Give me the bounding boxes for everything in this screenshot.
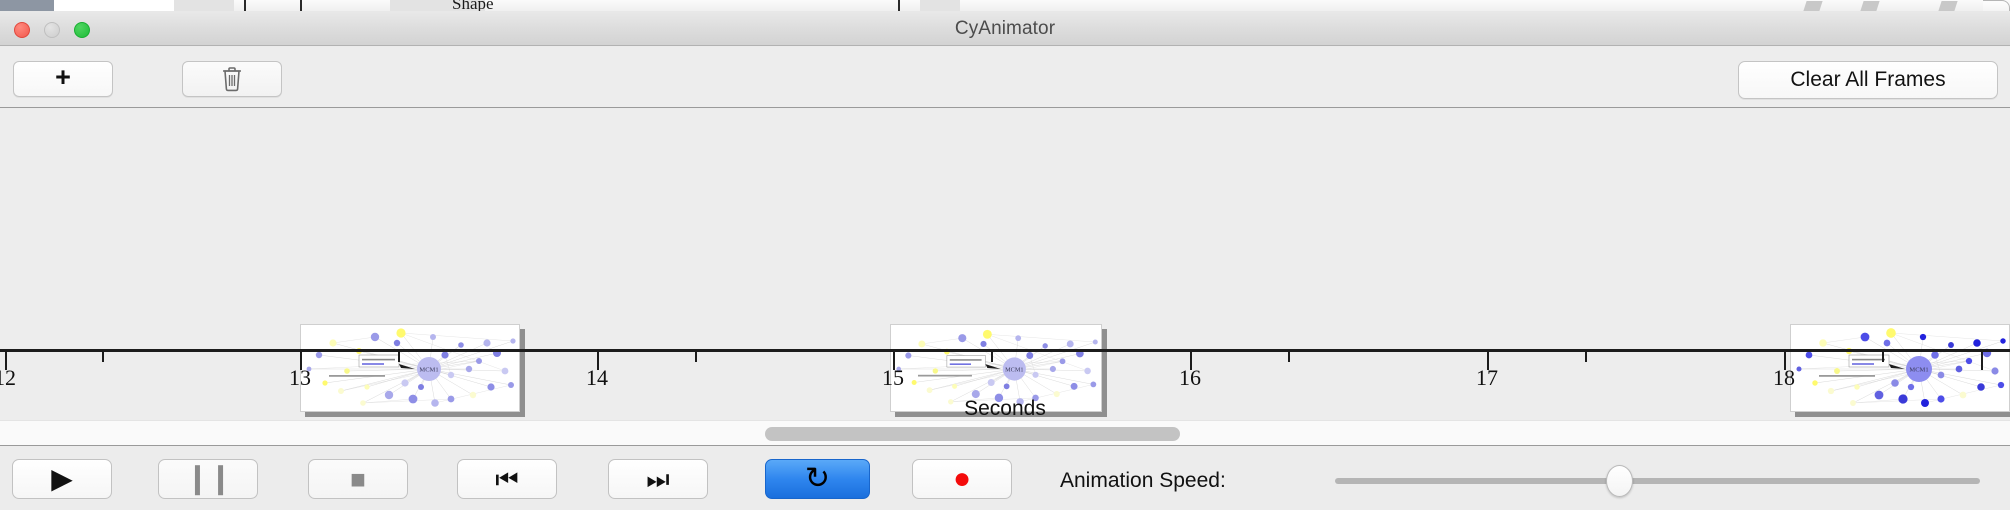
animation-speed-slider[interactable] [1335, 478, 1980, 484]
animation-speed-label: Animation Speed: [1060, 469, 1226, 493]
slider-thumb[interactable] [1606, 465, 1633, 497]
cyanimator-window: Shape CyAnimator + Clear All Frames [0, 0, 2010, 510]
axis-tick-label: 16 [1179, 365, 1201, 391]
bg-chunk [174, 0, 234, 11]
skip-back-icon: ⏮ [495, 466, 518, 492]
record-icon: ● [953, 464, 971, 494]
svg-text:MCM1: MCM1 [1909, 366, 1928, 373]
bg-tab [1860, 1, 1879, 11]
window-title: CyAnimator [0, 18, 2010, 40]
stop-icon: ■ [350, 466, 366, 492]
timeline-panel[interactable]: MCM1MCM1MCM1 12131415161718 Seconds [0, 109, 2010, 420]
svg-text:MCM1: MCM1 [419, 366, 438, 373]
add-frame-button[interactable]: + [13, 61, 113, 97]
axis-tick [102, 352, 104, 362]
axis-tick-label: 13 [289, 365, 311, 391]
axis-tick-label: 18 [1773, 365, 1795, 391]
timeline-scrollbar[interactable] [0, 420, 2010, 446]
axis-tick [1288, 352, 1290, 362]
play-icon: ▶ [51, 465, 73, 493]
axis-tick-label: 15 [882, 365, 904, 391]
svg-text:MCM1: MCM1 [1005, 366, 1023, 373]
scrollbar-thumb[interactable] [765, 427, 1180, 441]
stop-button: ■ [308, 459, 408, 499]
skip-forward-icon: ⏭ [646, 466, 669, 492]
bg-chunk [920, 0, 960, 11]
axis-tick [991, 352, 993, 362]
clear-all-frames-label: Clear All Frames [1790, 68, 1945, 92]
axis-tick [398, 352, 400, 362]
toolbar: + Clear All Frames [0, 47, 2010, 108]
axis-tick [1981, 352, 1983, 370]
axis-tick-label: 12 [0, 365, 16, 391]
skip-fwd-button[interactable]: ⏭ [608, 459, 708, 499]
bg-tab [1938, 1, 1957, 11]
title-bar: CyAnimator [0, 11, 2010, 46]
loop-button[interactable]: ↻ [765, 459, 870, 499]
delete-frame-button[interactable] [182, 61, 282, 97]
play-button[interactable]: ▶ [12, 459, 112, 499]
axis-tick-label: 14 [586, 365, 608, 391]
record-button[interactable]: ● [912, 459, 1012, 499]
axis-title: Seconds [0, 397, 2010, 420]
axis-tick [695, 352, 697, 362]
skip-back-button[interactable]: ⏮ [457, 459, 557, 499]
bg-chunk [244, 0, 246, 11]
clear-all-frames-button[interactable]: Clear All Frames [1738, 61, 1998, 99]
bg-chunk [0, 0, 54, 11]
bg-chunk [54, 0, 174, 11]
plus-icon: + [55, 64, 71, 91]
pause-button: ❙❙ [158, 459, 258, 499]
playback-control-bar: ▶❙❙■⏮⏭↻● Animation Speed: [0, 447, 2010, 510]
axis-tick-label: 17 [1476, 365, 1498, 391]
pause-icon: ❙❙ [185, 464, 231, 494]
trash-icon [221, 66, 243, 92]
axis-tick [1882, 352, 1884, 362]
loop-icon: ↻ [805, 464, 830, 494]
bg-tab [1803, 1, 1822, 11]
axis-tick [1585, 352, 1587, 362]
bg-chunk [898, 0, 900, 11]
bg-chunk [300, 0, 302, 11]
